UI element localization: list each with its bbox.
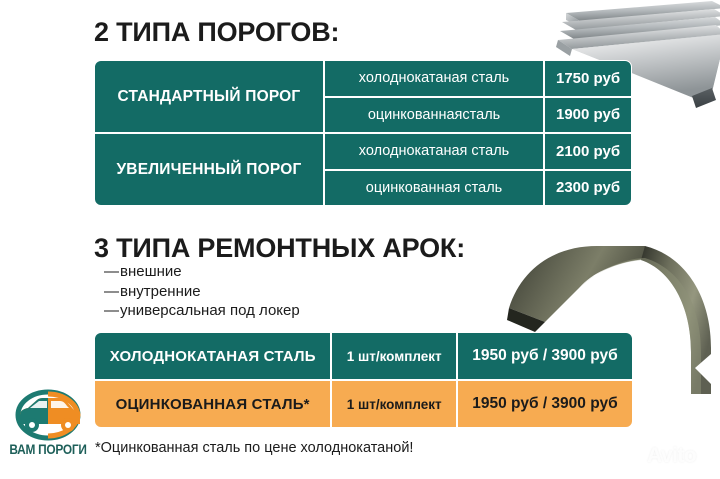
sills-material-1-0: холоднокатаная сталь [324,133,544,170]
table-row: ОЦИНКОВАННАЯ СТАЛЬ* 1 шт/комплект 1950 р… [94,380,633,428]
list-item: —универсальная под локер [104,301,300,321]
avito-dot-icon [636,451,644,459]
avito-watermark: Avito [636,444,696,468]
list-item-label: внешние [120,263,182,280]
sills-price-0-1: 1900 руб [544,97,632,134]
arch-qty-1: 1 шт/комплект [331,380,457,428]
avito-watermark-label: Avito [647,444,696,468]
sills-material-0-0: холоднокатаная сталь [324,60,544,97]
list-item-label: внутренние [120,283,201,300]
table-row: ХОЛОДНОКАТАНАЯ СТАЛЬ 1 шт/комплект 1950 … [94,332,633,380]
sills-price-0-0: 1750 руб [544,60,632,97]
arch-price-0: 1950 руб / 3900 руб [457,332,633,380]
page-title-sills: 2 ТИПА ПОРОГОВ: [94,17,339,48]
table-row: УВЕЛИЧЕННЫЙ ПОРОГ холоднокатаная сталь 2… [94,133,632,170]
sills-price-1-0: 2100 руб [544,133,632,170]
promo-canvas: 2 ТИПА ПОРОГОВ: СТАНДАРТНЫЙ ПОРОГ холодн… [0,0,720,479]
sills-material-1-1: оцинкованная сталь [324,170,544,207]
list-item: —внутренние [104,282,300,302]
sills-group-name-1: УВЕЛИЧЕННЫЙ ПОРОГ [94,133,324,206]
arch-material-0: ХОЛОДНОКАТАНАЯ СТАЛЬ [94,332,331,380]
sills-price-table: СТАНДАРТНЫЙ ПОРОГ холоднокатаная сталь 1… [94,60,632,206]
list-item-label: универсальная под локер [120,302,300,319]
arch-types-list: —внешние —внутренние —универсальная под … [104,262,300,321]
bullet-dash-icon: — [104,262,120,282]
arch-price-1: 1950 руб / 3900 руб [457,380,633,428]
arch-material-1: ОЦИНКОВАННАЯ СТАЛЬ* [94,380,331,428]
bullet-dash-icon: — [104,282,120,302]
footnote-text: *Оцинкованная сталь по цене холоднокатан… [95,440,413,456]
car-logo-icon [4,388,92,442]
page-title-arches: 3 ТИПА РЕМОНТНЫХ АРОК: [94,233,465,264]
arch-qty-0: 1 шт/комплект [331,332,457,380]
bullet-dash-icon: — [104,301,120,321]
brand-logo-text: ВАМ ПОРОГИ [9,442,86,457]
table-row: СТАНДАРТНЫЙ ПОРОГ холоднокатаная сталь 1… [94,60,632,97]
brand-logo: ВАМ ПОРОГИ [4,388,92,468]
sills-price-1-1: 2300 руб [544,170,632,207]
sills-group-name-0: СТАНДАРТНЫЙ ПОРОГ [94,60,324,133]
arches-price-table: ХОЛОДНОКАТАНАЯ СТАЛЬ 1 шт/комплект 1950 … [94,332,633,428]
list-item: —внешние [104,262,300,282]
sills-material-0-1: оцинкованнаясталь [324,97,544,134]
